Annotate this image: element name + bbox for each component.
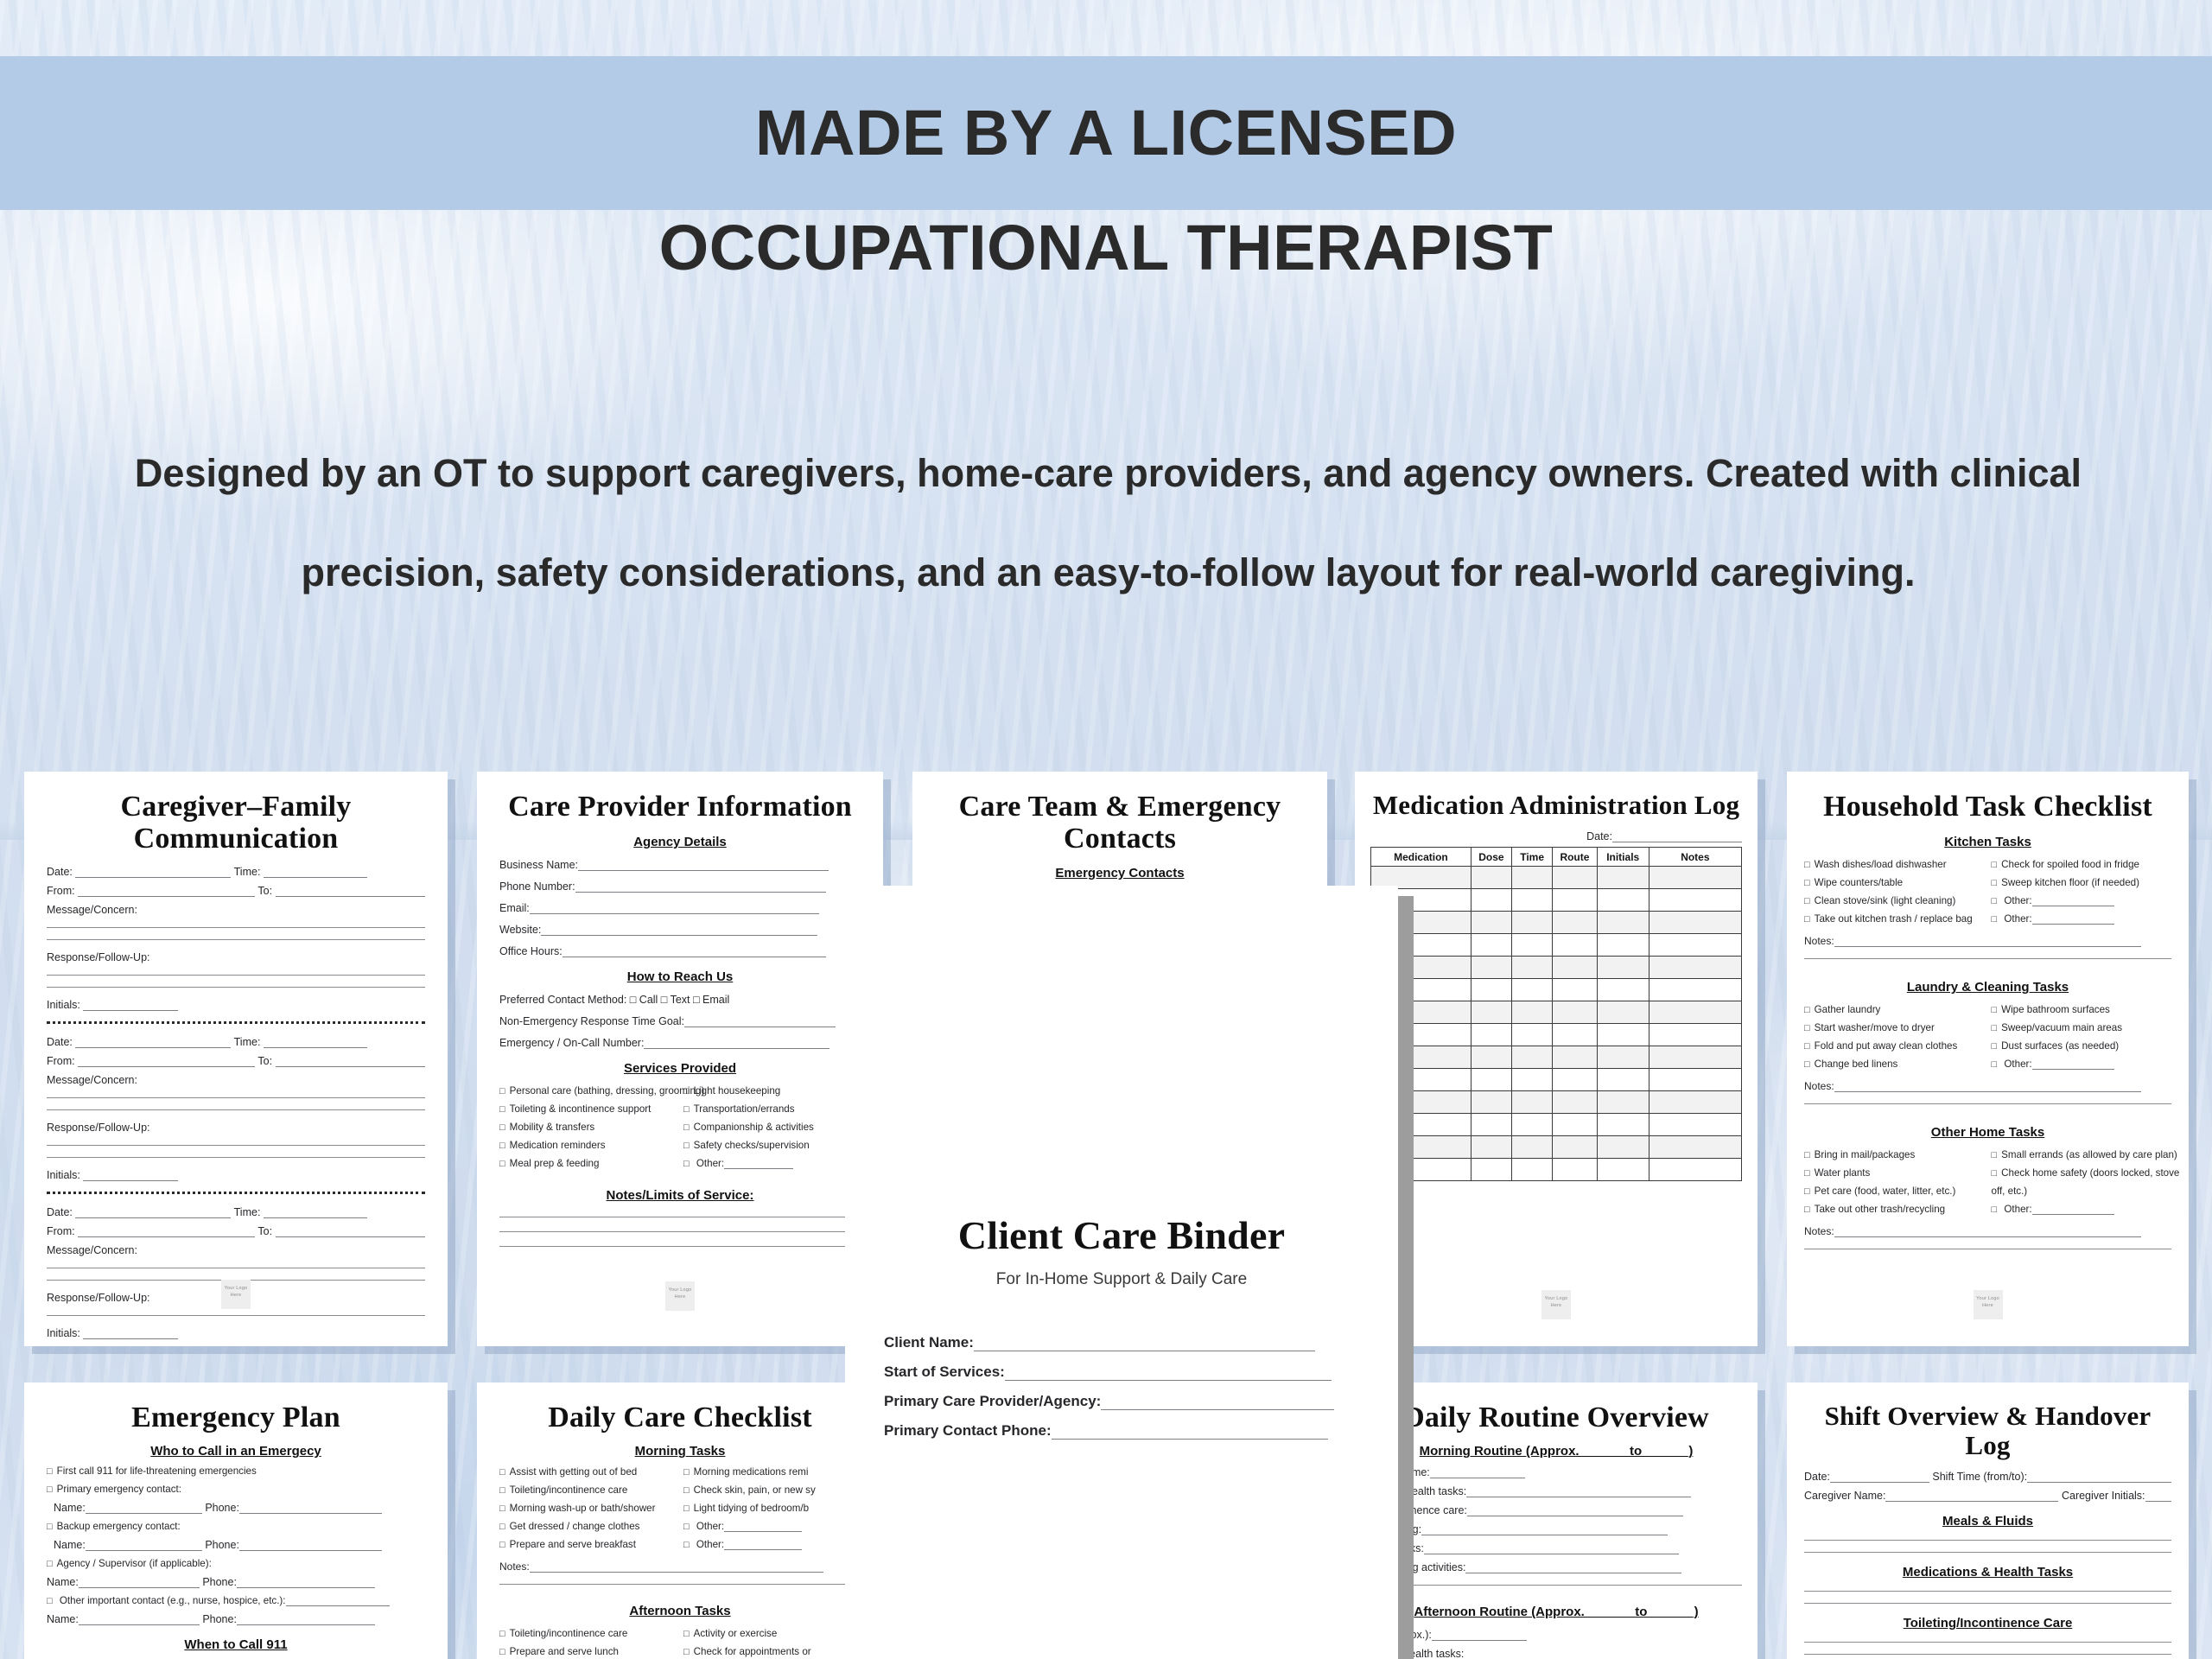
table-row[interactable] (1371, 912, 1742, 934)
doc-title: Caregiver–Family Communication (47, 791, 425, 855)
field-grooming: /grooming: (1370, 1523, 1742, 1535)
column-dose: Dose (1471, 848, 1511, 867)
table-row[interactable] (1371, 1136, 1742, 1159)
doc-care-team-emergency-contacts[interactable]: Care Team & Emergency Contacts Emergency… (912, 772, 1327, 893)
doc-title: Emergency Plan (47, 1402, 425, 1433)
checkbox-task[interactable]: Sweep kitchen floor (if needed) (1992, 877, 2172, 888)
column-notes: Notes (1649, 848, 1741, 867)
field-message: Message/Concern: (47, 904, 425, 916)
field-date-time: Date: Time: (47, 1036, 425, 1048)
checkbox-service[interactable]: Medication reminders (499, 1140, 677, 1151)
checkbox-other-contact[interactable]: Other important contact (e.g., nurse, ho… (47, 1595, 425, 1606)
field-afternoon-time: ne (approx.): (1370, 1629, 1742, 1641)
laundry-columns: Gather laundry Start washer/move to drye… (1804, 1004, 2171, 1077)
field-office-hours: Office Hours: (499, 945, 861, 957)
column-initials: Initials (1597, 848, 1649, 867)
field-notes-morning: Notes: (499, 1560, 861, 1573)
field-message: Message/Concern: (47, 1244, 425, 1256)
field-oncall-number: Emergency / On-Call Number: (499, 1037, 861, 1049)
column-medication: Medication (1371, 848, 1471, 867)
field-date-time: Date: Time: (47, 1206, 425, 1218)
field-response: Response/Follow-Up: (47, 951, 425, 963)
table-row[interactable] (1371, 1091, 1742, 1114)
afternoon-right-column: Activity or exercise Check for appointme… (683, 1628, 861, 1659)
field-date-shift-time: Date: Shift Time (from/to): (1804, 1471, 2171, 1483)
section-afternoon-tasks: Afternoon Tasks (499, 1604, 861, 1618)
checkbox-backup-contact[interactable]: Backup emergency contact: (47, 1521, 425, 1532)
checkbox-task[interactable]: Take out other trash/recycling (1804, 1204, 1985, 1215)
table-row[interactable] (1371, 1069, 1742, 1091)
entry-block-2: Date: Time: From: To: Message/Concern: R… (47, 1036, 425, 1181)
doc-daily-routine-overview[interactable]: Daily Routine Overview Morning Routine (… (1355, 1382, 1758, 1659)
field-name-phone: Name: Phone: (47, 1576, 425, 1588)
field-from-to: From: To: (47, 1225, 425, 1237)
checkbox-call-911[interactable]: First call 911 for life-threatening emer… (47, 1465, 425, 1477)
field-business-name: Business Name: (499, 859, 861, 871)
doc-shift-overview-handover-log[interactable]: Shift Overview & Handover Log Date: Shif… (1787, 1382, 2189, 1659)
services-left-column: Personal care (bathing, dressing, groomi… (499, 1085, 677, 1176)
doc-emergency-plan[interactable]: Emergency Plan Who to Call in an Emergec… (24, 1382, 448, 1659)
other-left-column: Bring in mail/packages Water plants Pet … (1804, 1149, 1985, 1222)
kitchen-right-column: Check for spoiled food in fridge Sweep k… (1992, 859, 2172, 931)
other-columns: Bring in mail/packages Water plants Pet … (1804, 1149, 2171, 1222)
checkbox-service[interactable]: Transportation/errands (683, 1103, 861, 1115)
kitchen-left-column: Wash dishes/load dishwasher Wipe counter… (1804, 859, 1985, 931)
field-notes-kitchen: Notes: (1804, 935, 2171, 947)
checkbox-task-other[interactable]: Other: (1992, 895, 2172, 906)
field-name-phone: Name: Phone: (47, 1539, 425, 1551)
table-row[interactable] (1371, 979, 1742, 1001)
checkbox-task[interactable]: Change bed linens (1804, 1058, 1985, 1070)
field-email: Email: (499, 902, 861, 914)
checkbox-task[interactable]: Check for appointments or (683, 1646, 861, 1657)
checkbox-task[interactable]: Activity or exercise (683, 1628, 861, 1639)
field-start-of-services: Start of Services: (884, 1363, 1359, 1381)
field-notes-laundry: Notes: (1804, 1080, 2171, 1092)
checkbox-task[interactable]: Dust surfaces (as needed) (1992, 1040, 2172, 1052)
entry-separator (47, 1192, 425, 1194)
checkbox-task[interactable]: Toileting/incontinence care (499, 1628, 677, 1639)
section-toileting-incontinence-care: Toileting/Incontinence Care (1804, 1616, 2171, 1630)
logo-placeholder: Your Logo Here (221, 1280, 251, 1309)
section-meals-fluids: Meals & Fluids (1804, 1514, 2171, 1529)
checkbox-task[interactable]: Pet care (food, water, litter, etc.) (1804, 1185, 1985, 1197)
checkbox-service[interactable]: Light housekeeping (683, 1085, 861, 1096)
checkbox-task[interactable]: Start washer/move to dryer (1804, 1022, 1985, 1033)
field-response-time-goal: Non-Emergency Response Time Goal: (499, 1015, 861, 1027)
field-client-name: Client Name: (884, 1334, 1359, 1351)
morning-right-column: Morning medications remi Check skin, pai… (683, 1466, 861, 1557)
binder-title: Client Care Binder (884, 1214, 1359, 1258)
doc-title: Medication Administration Log (1370, 791, 1742, 820)
section-services-provided: Services Provided (499, 1061, 861, 1076)
table-row[interactable] (1371, 1046, 1742, 1069)
field-breakfast-drinks: st & drinks: (1370, 1542, 1742, 1554)
checkbox-task[interactable]: Wash dishes/load dishwasher (1804, 859, 1985, 870)
binder-inner: Client Care Binder For In-Home Support &… (845, 1214, 1398, 1452)
field-from-to: From: To: (47, 885, 425, 897)
field-website: Website: (499, 924, 861, 936)
section-agency-details: Agency Details (499, 835, 861, 849)
other-right-column: Small errands (as allowed by care plan) … (1992, 1149, 2172, 1222)
column-route: Route (1553, 848, 1597, 867)
afternoon-left-column: Toileting/incontinence care Prepare and … (499, 1628, 677, 1659)
field-primary-contact-phone: Primary Contact Phone: (884, 1422, 1359, 1440)
checkbox-task[interactable]: Sweep/vacuum main areas (1992, 1022, 2172, 1033)
doc-caregiver-family-communication[interactable]: Caregiver–Family Communication Date: Tim… (24, 772, 448, 1346)
table-row[interactable] (1371, 867, 1742, 889)
field-date-time: Date: Time: (47, 866, 425, 878)
field-wakeup-time: ake-up time: (1370, 1466, 1742, 1478)
section-morning-tasks: Morning Tasks (499, 1444, 861, 1459)
doc-title: Daily Care Checklist (499, 1402, 861, 1433)
field-preferred-contact-method: Preferred Contact Method: □ Call □ Text … (499, 994, 861, 1006)
checkbox-task[interactable]: Assist with getting out of bed (499, 1466, 677, 1478)
checkbox-task[interactable]: Prepare and serve breakfast (499, 1539, 677, 1550)
logo-placeholder: Your Logo Here (1541, 1290, 1571, 1319)
table-row[interactable] (1371, 1001, 1742, 1024)
checkbox-task-other[interactable]: Other: (683, 1521, 861, 1532)
checkbox-service[interactable]: Meal prep & feeding (499, 1158, 677, 1169)
checkbox-service[interactable]: Mobility & transfers (499, 1122, 677, 1133)
checkbox-task-other[interactable]: Other: (1992, 1204, 2172, 1215)
laundry-left-column: Gather laundry Start washer/move to drye… (1804, 1004, 1985, 1077)
section-other-home-tasks: Other Home Tasks (1804, 1125, 2171, 1140)
section-when-to-call-911: When to Call 911 (47, 1637, 425, 1652)
headline-band: MADE BY A LICENSED (0, 56, 2212, 210)
field-initials: Initials: (47, 1327, 425, 1339)
doc-title: Household Task Checklist (1804, 791, 2171, 823)
checkbox-task-continuation: off, etc.) (1992, 1185, 2172, 1197)
table-row[interactable] (1371, 1024, 1742, 1046)
field-afternoon-medications: ons or health tasks: (1370, 1648, 1742, 1659)
doc-title: Care Team & Emergency Contacts (935, 791, 1305, 855)
table-row[interactable] (1371, 889, 1742, 912)
checkbox-task[interactable]: Morning medications remi (683, 1466, 861, 1478)
checkbox-task[interactable]: Prepare and serve lunch (499, 1646, 677, 1657)
doc-client-care-binder[interactable]: Client Care Binder For In-Home Support &… (845, 886, 1398, 1659)
logo-placeholder: Your Logo Here (1974, 1290, 2003, 1319)
checkbox-task[interactable]: Get dressed / change clothes (499, 1521, 677, 1532)
field-notes-other: Notes: (1804, 1225, 2171, 1237)
table-row[interactable] (1371, 1114, 1742, 1136)
field-morning-activities: d morning activities: (1370, 1561, 1742, 1573)
scroll-artifact-bar-left (1398, 896, 1414, 1659)
checkbox-task[interactable]: Water plants (1804, 1167, 1985, 1179)
checkbox-service[interactable]: Companionship & activities (683, 1122, 861, 1133)
entry-block-3: Date: Time: From: To: Message/Concern: R… (47, 1206, 425, 1339)
section-kitchen-tasks: Kitchen Tasks (1804, 835, 2171, 849)
doc-title: Care Provider Information (499, 791, 861, 823)
field-medications-health: ions or health tasks: (1370, 1485, 1742, 1497)
checkbox-task[interactable]: Toileting/incontinence care (499, 1484, 677, 1496)
table-row[interactable] (1371, 934, 1742, 957)
table-header-row: Medication Dose Time Route Initials Note… (1371, 848, 1742, 867)
afternoon-columns: Toileting/incontinence care Prepare and … (499, 1628, 861, 1659)
checkbox-task[interactable]: Take out kitchen trash / replace bag (1804, 913, 1985, 925)
section-laundry-cleaning-tasks: Laundry & Cleaning Tasks (1804, 980, 2171, 995)
checkbox-task[interactable]: Morning wash-up or bath/shower (499, 1503, 677, 1514)
headline-line-1: MADE BY A LICENSED (755, 95, 1457, 170)
section-medications-health-tasks: Medications & Health Tasks (1804, 1565, 2171, 1580)
laundry-right-column: Wipe bathroom surfaces Sweep/vacuum main… (1992, 1004, 2172, 1077)
field-name-phone: Name: Phone: (47, 1613, 425, 1625)
section-morning-routine: Morning Routine (Approx. ______ to _____… (1370, 1444, 1742, 1459)
doc-daily-care-checklist[interactable]: Daily Care Checklist Morning Tasks Assis… (477, 1382, 883, 1659)
checkbox-service[interactable]: Personal care (bathing, dressing, groomi… (499, 1085, 677, 1096)
section-how-to-reach-us: How to Reach Us (499, 969, 861, 984)
field-phone-number: Phone Number: (499, 880, 861, 893)
checkbox-service-other[interactable]: Other: (683, 1158, 861, 1169)
checkbox-task[interactable]: Gather laundry (1804, 1004, 1985, 1015)
field-from-to: From: To: (47, 1055, 425, 1067)
field-message: Message/Concern: (47, 1074, 425, 1086)
checkbox-task[interactable]: Clean stove/sink (light cleaning) (1804, 895, 1985, 906)
checkbox-task[interactable]: Light tidying of bedroom/b (683, 1503, 861, 1514)
checkbox-task[interactable]: Check home safety (doors locked, stove (1992, 1167, 2172, 1179)
entry-block-1: Date: Time: From: To: Message/Concern: R… (47, 866, 425, 1011)
logo-placeholder: Your Logo Here (665, 1281, 695, 1311)
checkbox-task[interactable]: Wipe bathroom surfaces (1992, 1004, 2172, 1015)
field-caregiver-name-initials: Caregiver Name: Caregiver Initials: (1804, 1490, 2171, 1502)
checkbox-service[interactable]: Toileting & incontinence support (499, 1103, 677, 1115)
section-notes-limits: Notes/Limits of Service: (499, 1188, 861, 1203)
checkbox-task-other[interactable]: Other: (1992, 913, 2172, 925)
field-date: Date: (1370, 830, 1742, 842)
table-row[interactable] (1371, 957, 1742, 979)
subheadline-paragraph: Designed by an OT to support caregivers,… (134, 423, 2082, 622)
checkbox-task-other[interactable]: Other: (1992, 1058, 2172, 1070)
field-initials: Initials: (47, 999, 425, 1011)
field-primary-care-provider: Primary Care Provider/Agency: (884, 1393, 1359, 1410)
checkbox-task[interactable]: Wipe counters/table (1804, 877, 1985, 888)
kitchen-columns: Wash dishes/load dishwasher Wipe counter… (1804, 859, 2171, 931)
doc-title: Daily Routine Overview (1370, 1402, 1742, 1433)
section-emergency-contacts: Emergency Contacts (935, 866, 1305, 880)
headline-line-2: OCCUPATIONAL THERAPIST (0, 210, 2212, 285)
entry-separator (47, 1021, 425, 1024)
checkbox-task-other[interactable]: Other: (683, 1539, 861, 1550)
checkbox-task[interactable]: Bring in mail/packages (1804, 1149, 1985, 1160)
checkbox-service[interactable]: Safety checks/supervision (683, 1140, 861, 1151)
morning-left-column: Assist with getting out of bed Toileting… (499, 1466, 677, 1557)
column-time: Time (1512, 848, 1553, 867)
morning-columns: Assist with getting out of bed Toileting… (499, 1466, 861, 1557)
section-who-to-call: Who to Call in an Emergecy (47, 1444, 425, 1459)
doc-care-provider-information[interactable]: Care Provider Information Agency Details… (477, 772, 883, 1346)
services-right-column: Light housekeeping Transportation/errand… (683, 1085, 861, 1176)
doc-household-task-checklist[interactable]: Household Task Checklist Kitchen Tasks W… (1787, 772, 2189, 1346)
binder-subtitle: For In-Home Support & Daily Care (884, 1270, 1359, 1289)
checkbox-primary-contact[interactable]: Primary emergency contact: (47, 1484, 425, 1495)
checkbox-task[interactable]: Small errands (as allowed by care plan) (1992, 1149, 2172, 1160)
field-toileting-care: g/incontinence care: (1370, 1504, 1742, 1516)
checkbox-agency-supervisor[interactable]: Agency / Supervisor (if applicable): (47, 1558, 425, 1569)
checkbox-task[interactable]: Check for spoiled food in fridge (1992, 859, 2172, 870)
services-columns: Personal care (bathing, dressing, groomi… (499, 1085, 861, 1176)
checkbox-task[interactable]: Check skin, pain, or new sy (683, 1484, 861, 1496)
section-afternoon-routine: Afternoon Routine (Approx. ______ to ___… (1370, 1605, 1742, 1619)
doc-title: Shift Overview & Handover Log (1804, 1402, 2171, 1460)
field-response: Response/Follow-Up: (47, 1122, 425, 1134)
medication-log-table[interactable]: Medication Dose Time Route Initials Note… (1370, 847, 1742, 1181)
checkbox-task[interactable]: Fold and put away clean clothes (1804, 1040, 1985, 1052)
table-row[interactable] (1371, 1159, 1742, 1181)
field-name-phone: Name: Phone: (47, 1502, 425, 1514)
field-initials: Initials: (47, 1169, 425, 1181)
doc-medication-administration-log[interactable]: Medication Administration Log Date: Medi… (1355, 772, 1758, 1346)
